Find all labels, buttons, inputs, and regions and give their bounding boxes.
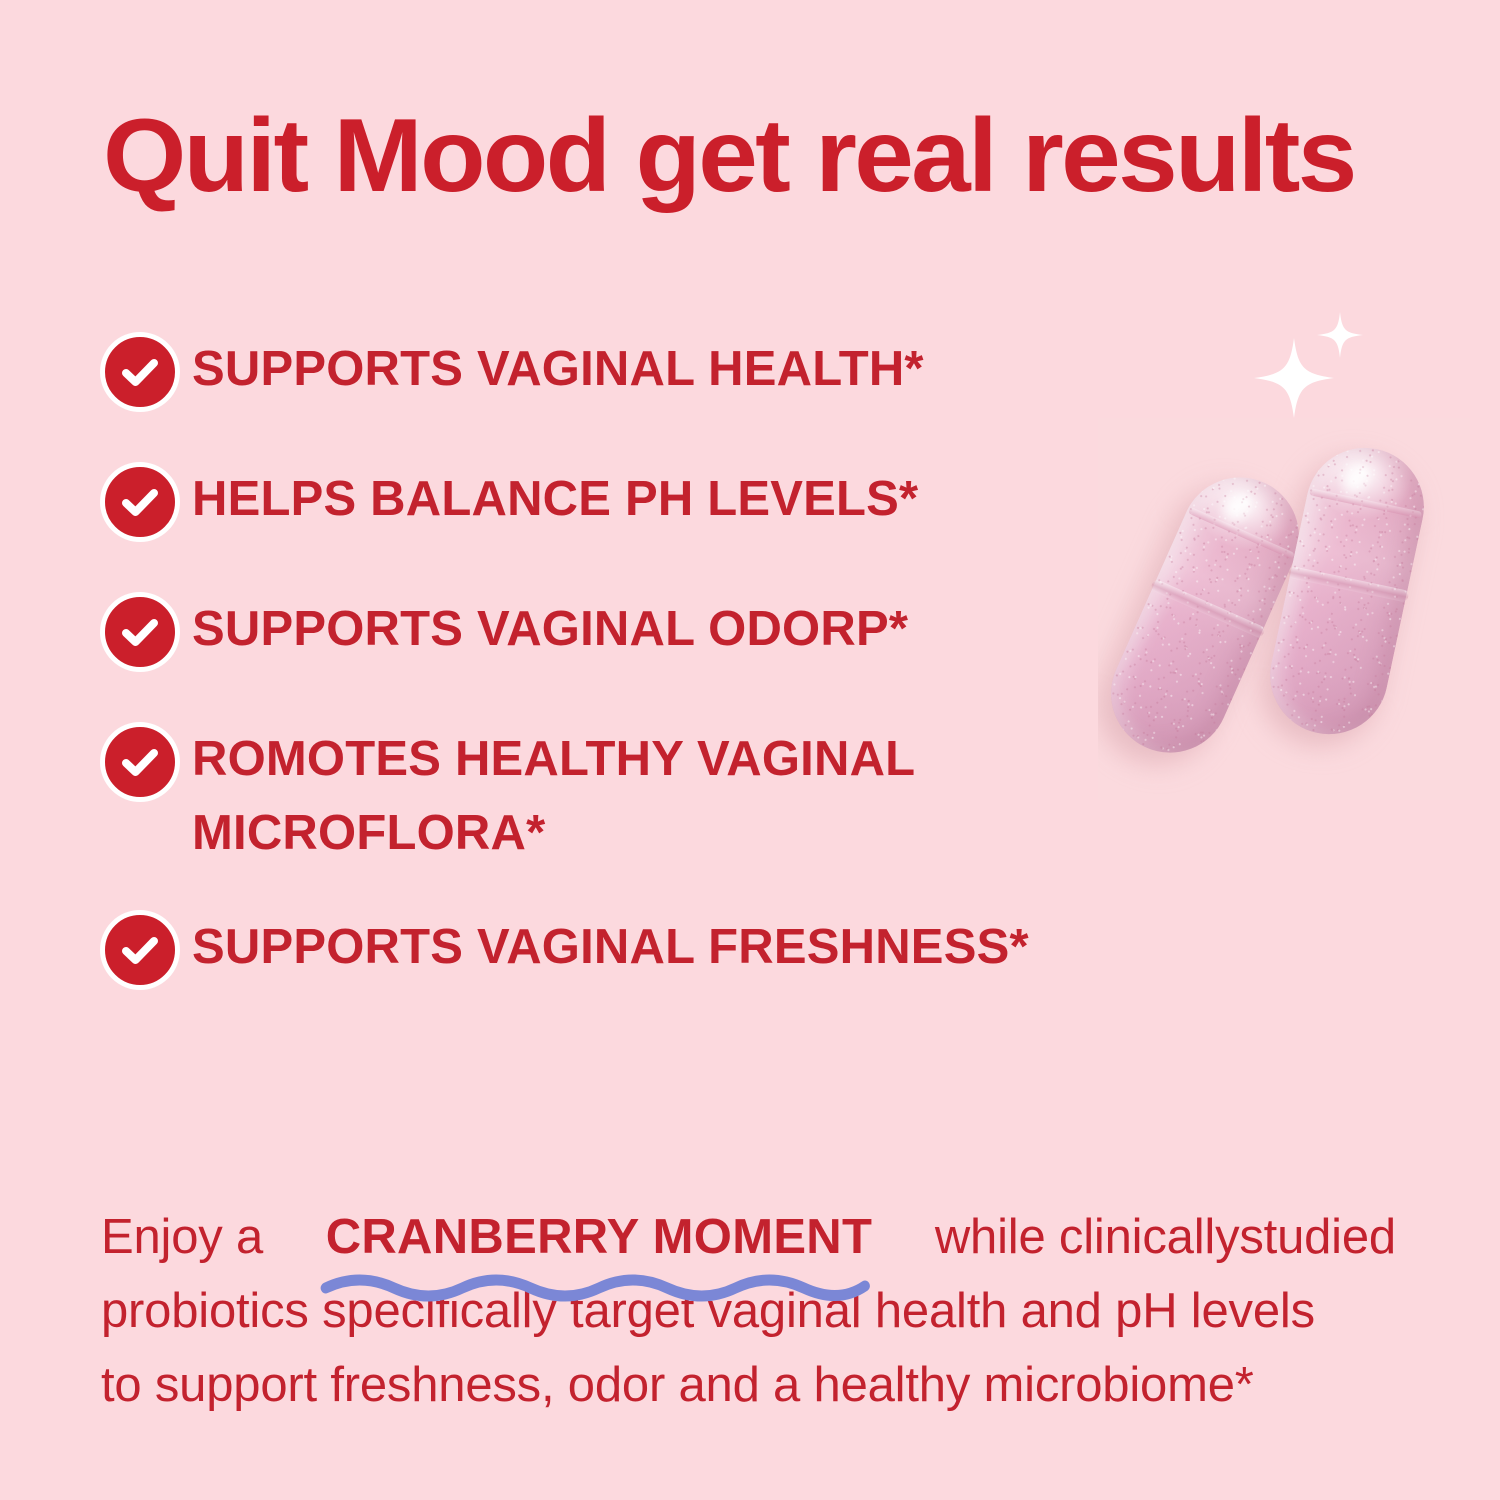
page-title: Quit Mood get real results bbox=[103, 104, 1463, 208]
check-circle-icon bbox=[100, 592, 180, 672]
paragraph-text-before: Enjoy a bbox=[101, 1200, 263, 1274]
check-wrap bbox=[100, 908, 192, 990]
benefits-list: SUPPORTS VAGINAL HEALTH* HELPS BALANCE P… bbox=[100, 330, 1160, 1038]
check-wrap bbox=[100, 330, 192, 412]
benefit-label: SUPPORTS VAGINAL HEALTH* bbox=[192, 330, 1160, 406]
check-circle-icon bbox=[100, 332, 180, 412]
wavy-underline-icon bbox=[322, 1272, 869, 1300]
check-circle-icon bbox=[100, 722, 180, 802]
paragraph-line-3: to support freshness, odor and a healthy… bbox=[101, 1348, 1401, 1422]
check-wrap bbox=[100, 460, 192, 542]
benefit-label: SUPPORTS VAGINAL ODORP* bbox=[192, 590, 1160, 666]
sparkle-icon bbox=[1248, 302, 1376, 430]
cranberry-highlight: CRANBERRY MOMENT bbox=[326, 1210, 873, 1264]
benefit-item-1: SUPPORTS VAGINAL HEALTH* bbox=[100, 330, 1160, 412]
benefit-label: ROMOTES HEALTHY VAGINAL MICROFLORA* bbox=[192, 720, 1160, 870]
benefit-label: HELPS BALANCE PH LEVELS* bbox=[192, 460, 1160, 536]
description-paragraph: Enjoy a CRANBERRY MOMENT while clinicall… bbox=[101, 1200, 1401, 1422]
check-wrap bbox=[100, 590, 192, 672]
check-circle-icon bbox=[100, 462, 180, 542]
check-circle-icon bbox=[100, 910, 180, 990]
capsule-right bbox=[1259, 437, 1435, 745]
benefit-item-4: ROMOTES HEALTHY VAGINAL MICROFLORA* bbox=[100, 720, 1160, 870]
benefit-item-2: HELPS BALANCE PH LEVELS* bbox=[100, 460, 1160, 542]
paragraph-text-after: while clinicallystudied bbox=[935, 1200, 1396, 1274]
benefit-item-5: SUPPORTS VAGINAL FRESHNESS* bbox=[100, 908, 1160, 990]
cranberry-highlight-wrap: CRANBERRY MOMENT bbox=[326, 1200, 873, 1274]
check-wrap bbox=[100, 720, 192, 802]
paragraph-line-1: Enjoy a CRANBERRY MOMENT while clinicall… bbox=[101, 1200, 1396, 1274]
benefit-item-3: SUPPORTS VAGINAL ODORP* bbox=[100, 590, 1160, 672]
benefit-label: SUPPORTS VAGINAL FRESHNESS* bbox=[192, 908, 1160, 984]
